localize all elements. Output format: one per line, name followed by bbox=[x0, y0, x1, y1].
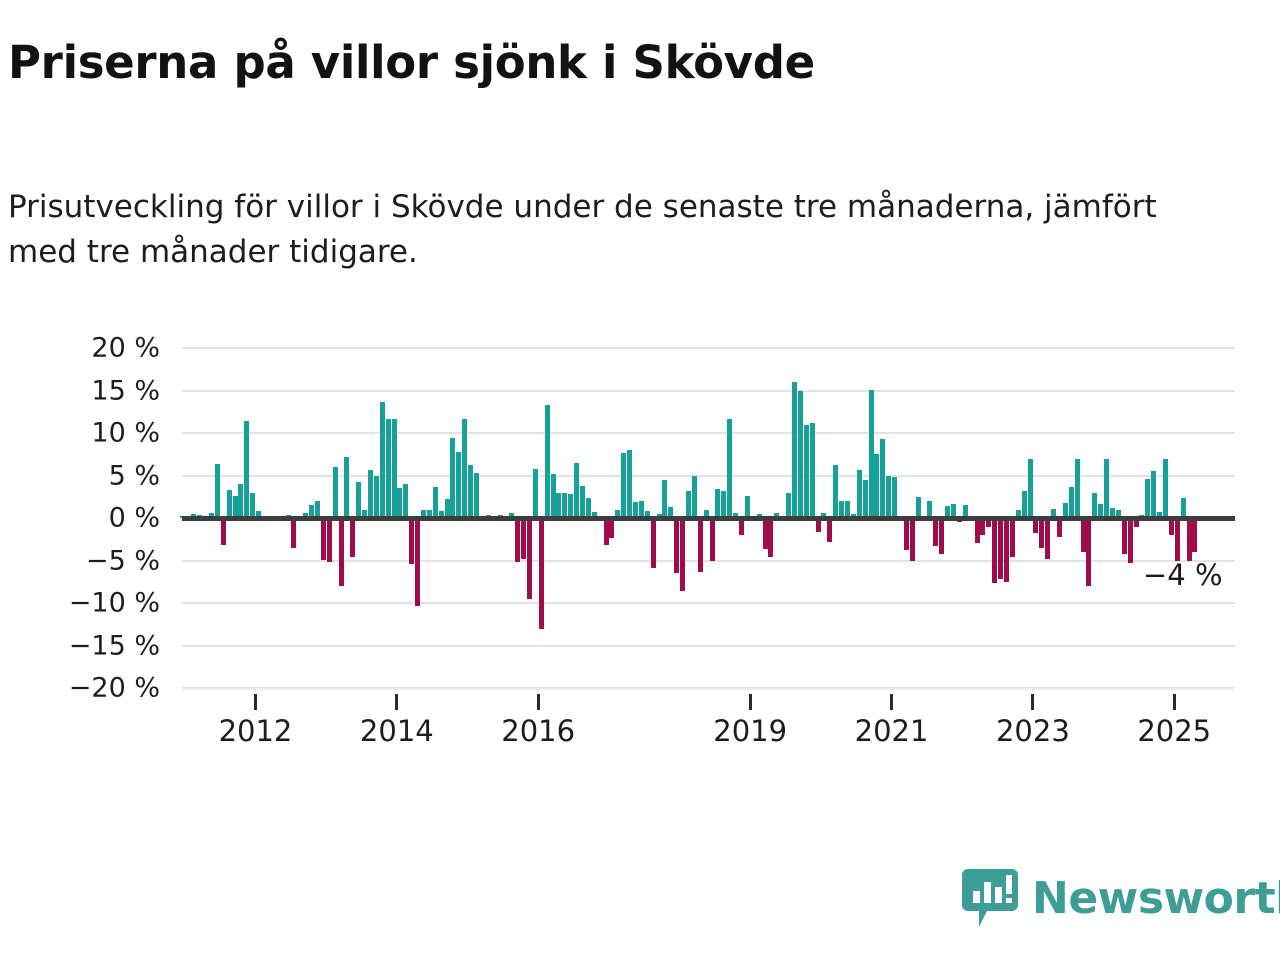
chart-bar bbox=[1004, 518, 1009, 582]
chart-bar bbox=[215, 464, 220, 518]
chart-bar bbox=[674, 518, 679, 573]
y-axis-tick-label: 15 % bbox=[0, 375, 160, 406]
chart-bar bbox=[333, 467, 338, 518]
chart-bar bbox=[1128, 518, 1133, 563]
y-axis-tick-label: 5 % bbox=[0, 460, 160, 491]
chart-bar bbox=[880, 439, 885, 518]
chart-bar bbox=[556, 493, 561, 519]
chart-bar bbox=[692, 476, 697, 519]
chart-bar bbox=[527, 518, 532, 599]
chart-bar bbox=[433, 487, 438, 518]
chart-bar bbox=[521, 518, 526, 559]
chart-bar bbox=[350, 518, 355, 557]
chart-bar bbox=[1104, 459, 1109, 519]
x-axis-tick bbox=[254, 694, 257, 710]
chart-bar bbox=[1081, 518, 1086, 552]
chart-bar bbox=[221, 518, 226, 545]
chart-bar bbox=[1010, 518, 1015, 557]
x-axis-tick-label: 2014 bbox=[360, 714, 434, 748]
chart-bar bbox=[1151, 471, 1156, 518]
y-axis-tick-label: 20 % bbox=[0, 333, 160, 364]
chart-bar bbox=[916, 497, 921, 518]
chart-bar bbox=[621, 453, 626, 518]
chart-bar bbox=[1187, 518, 1192, 561]
x-axis-line bbox=[182, 688, 1235, 690]
chart-bar bbox=[910, 518, 915, 561]
chart-bar bbox=[721, 491, 726, 518]
chart-bar bbox=[244, 421, 249, 518]
chart-bar bbox=[374, 476, 379, 519]
bar-chart: 20 %15 %10 %5 %0 %−5 %−10 %−15 %−20 % 20… bbox=[0, 348, 1280, 748]
chart-bar bbox=[992, 518, 997, 583]
chart-bar bbox=[250, 493, 255, 518]
chart-bar bbox=[468, 465, 473, 518]
x-axis-tick-label: 2025 bbox=[1137, 714, 1211, 748]
plot-area bbox=[182, 348, 1235, 688]
x-axis-tick-label: 2012 bbox=[219, 714, 293, 748]
newsworthy-logo: Newsworthy bbox=[962, 862, 1262, 936]
chart-bar bbox=[933, 518, 938, 546]
chart-bar bbox=[904, 518, 909, 550]
chart-bar bbox=[545, 405, 550, 518]
x-axis: 2012201420162019202120232025 bbox=[182, 688, 1235, 748]
chart-bar bbox=[1028, 459, 1033, 519]
chart-bar bbox=[368, 470, 373, 518]
bar-chart-speech-bubble-icon bbox=[962, 867, 1018, 931]
y-axis-tick-label: 10 % bbox=[0, 418, 160, 449]
chart-bar bbox=[327, 518, 332, 562]
chart-bar bbox=[456, 452, 461, 518]
chart-bar bbox=[233, 496, 238, 518]
chart-bar bbox=[727, 419, 732, 518]
chart-bar bbox=[227, 490, 232, 518]
chart-bar bbox=[680, 518, 685, 591]
chart-bar bbox=[415, 518, 420, 606]
chart-bar bbox=[1092, 493, 1097, 518]
y-axis-tick-label: −20 % bbox=[0, 673, 160, 704]
chart-bar bbox=[745, 496, 750, 518]
x-axis-tick bbox=[1031, 694, 1034, 710]
chart-bar bbox=[568, 494, 573, 518]
chart-bar bbox=[827, 518, 832, 542]
chart-bar bbox=[1069, 487, 1074, 518]
x-axis-tick bbox=[890, 694, 893, 710]
chart-bar bbox=[1045, 518, 1050, 559]
chart-bar bbox=[686, 491, 691, 518]
chart-bar bbox=[886, 476, 891, 519]
page-subtitle: Prisutveckling för villor i Skövde under… bbox=[8, 185, 1208, 275]
chart-bar bbox=[863, 480, 868, 518]
y-axis-tick-label: −10 % bbox=[0, 588, 160, 619]
chart-bar bbox=[715, 489, 720, 518]
chart-bar bbox=[1175, 518, 1180, 561]
chart-bar bbox=[874, 454, 879, 518]
chart-bar bbox=[1163, 459, 1168, 519]
chart-bar bbox=[562, 493, 567, 518]
chart-bar bbox=[869, 390, 874, 518]
y-axis-tick-label: −15 % bbox=[0, 630, 160, 661]
chart-bar bbox=[238, 484, 243, 518]
chart-bar bbox=[1122, 518, 1127, 554]
x-axis-tick bbox=[749, 694, 752, 710]
x-axis-tick-label: 2016 bbox=[501, 714, 575, 748]
x-axis-tick bbox=[1173, 694, 1176, 710]
chart-bar bbox=[792, 382, 797, 518]
chart-bar bbox=[651, 518, 656, 568]
chart-bar bbox=[662, 480, 667, 518]
chart-bar bbox=[1075, 459, 1080, 519]
chart-bar bbox=[533, 469, 538, 518]
x-axis-tick-label: 2021 bbox=[855, 714, 929, 748]
chart-page: Priserna på villor sjönk i Skövde Prisut… bbox=[0, 0, 1280, 960]
chart-bar bbox=[768, 518, 773, 557]
chart-bar bbox=[892, 477, 897, 518]
chart-bar bbox=[580, 486, 585, 518]
page-title: Priserna på villor sjönk i Skövde bbox=[8, 36, 815, 89]
newsworthy-wordmark: Newsworthy bbox=[1032, 877, 1280, 921]
chart-bar bbox=[344, 457, 349, 518]
zero-line bbox=[182, 516, 1235, 521]
chart-bar bbox=[380, 402, 385, 518]
chart-bar bbox=[975, 518, 980, 543]
chart-bar bbox=[339, 518, 344, 586]
chart-bar bbox=[939, 518, 944, 554]
chart-bar bbox=[998, 518, 1003, 579]
chart-bar bbox=[698, 518, 703, 572]
chart-bar bbox=[462, 419, 467, 518]
chart-bar bbox=[586, 498, 591, 518]
y-axis-tick-label: −5 % bbox=[0, 545, 160, 576]
chart-bar bbox=[321, 518, 326, 560]
chart-bar bbox=[474, 473, 479, 518]
chart-bar bbox=[763, 518, 768, 549]
chart-bar bbox=[833, 465, 838, 518]
chart-bar bbox=[857, 470, 862, 518]
chart-bar bbox=[392, 419, 397, 518]
chart-bar bbox=[786, 493, 791, 519]
y-axis-tick-label: 0 % bbox=[0, 503, 160, 534]
chart-bar bbox=[403, 484, 408, 518]
chart-bar bbox=[798, 391, 803, 519]
y-axis-labels: 20 %15 %10 %5 %0 %−5 %−10 %−15 %−20 % bbox=[0, 348, 160, 688]
chart-bar bbox=[409, 518, 414, 564]
chart-bar bbox=[710, 518, 715, 561]
chart-bar bbox=[291, 518, 296, 548]
chart-bar bbox=[515, 518, 520, 562]
chart-bar bbox=[604, 518, 609, 545]
x-axis-tick bbox=[395, 694, 398, 710]
chart-bar bbox=[539, 518, 544, 629]
chart-bar bbox=[397, 488, 402, 518]
chart-bar bbox=[1145, 479, 1150, 518]
chart-bar bbox=[356, 482, 361, 518]
chart-bar bbox=[551, 474, 556, 518]
chart-bar bbox=[804, 425, 809, 519]
value-annotation: −4 % bbox=[1143, 558, 1223, 592]
chart-bar bbox=[574, 463, 579, 518]
chart-bar bbox=[450, 438, 455, 518]
chart-bar bbox=[1022, 491, 1027, 518]
chart-bar bbox=[1086, 518, 1091, 586]
chart-bar bbox=[1039, 518, 1044, 548]
chart-bar bbox=[627, 450, 632, 518]
x-axis-tick-label: 2019 bbox=[713, 714, 787, 748]
chart-bar bbox=[1192, 518, 1197, 552]
chart-bar bbox=[810, 423, 815, 518]
x-axis-tick-label: 2023 bbox=[996, 714, 1070, 748]
chart-bar bbox=[386, 419, 391, 518]
x-axis-tick bbox=[537, 694, 540, 710]
